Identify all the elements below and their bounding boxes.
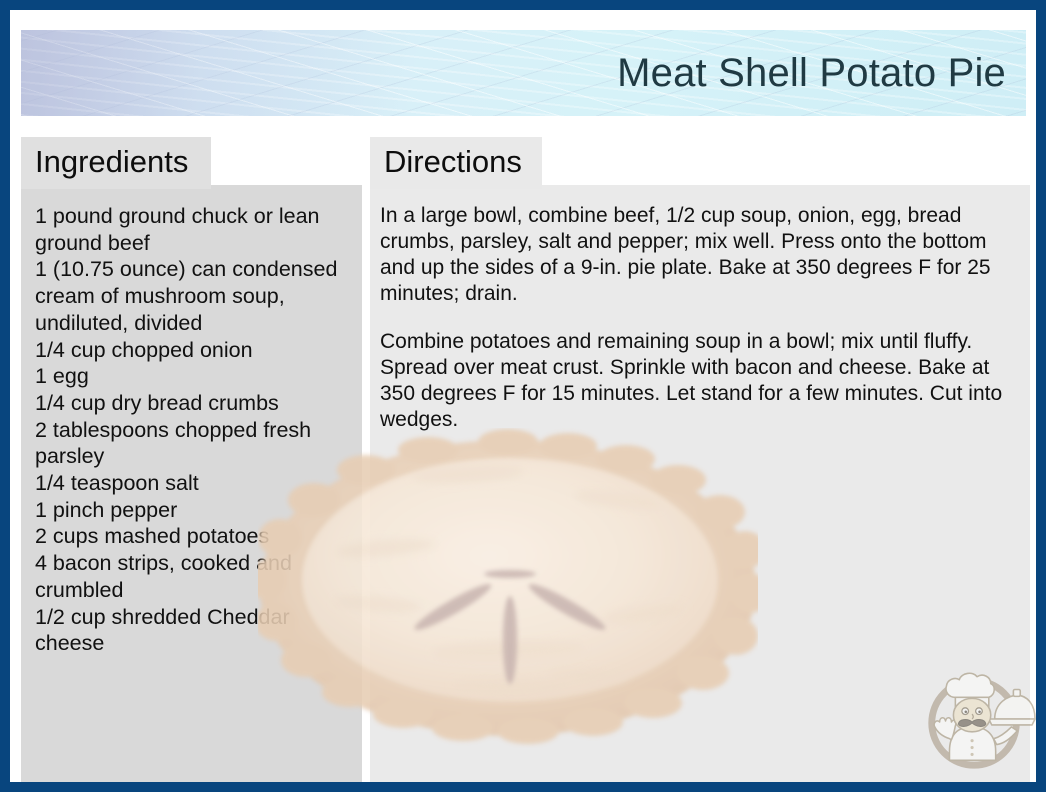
list-item: 1/4 cup dry bread crumbs — [35, 390, 350, 417]
list-item: 4 bacon strips, cooked and crumbled — [35, 550, 350, 603]
recipe-slide: Meat Shell Potato Pie Ingredients 1 poun… — [0, 0, 1046, 792]
list-item: 1 pound ground chuck or lean ground beef — [35, 203, 350, 256]
directions-panel: In a large bowl, combine beef, 1/2 cup s… — [370, 185, 1030, 782]
list-item: 2 cups mashed potatoes — [35, 523, 350, 550]
slide-content-area: Meat Shell Potato Pie Ingredients 1 poun… — [10, 10, 1036, 782]
list-item: 1 pinch pepper — [35, 497, 350, 524]
list-item: 1/2 cup shredded Cheddar cheese — [35, 604, 350, 657]
list-item: 1 (10.75 ounce) can condensed cream of m… — [35, 256, 350, 336]
list-item: 2 tablespoons chopped fresh parsley — [35, 417, 350, 470]
title-banner: Meat Shell Potato Pie — [21, 30, 1026, 116]
ingredients-panel: 1 pound ground chuck or lean ground beef… — [21, 185, 362, 782]
list-item: 1/4 cup chopped onion — [35, 337, 350, 364]
list-item: 1 egg — [35, 363, 350, 390]
section-header-directions: Directions — [370, 137, 542, 189]
page-title: Meat Shell Potato Pie — [617, 52, 1006, 94]
section-header-ingredients: Ingredients — [21, 137, 211, 189]
direction-paragraph: Combine potatoes and remaining soup in a… — [380, 329, 1012, 433]
list-item: 1/4 teaspoon salt — [35, 470, 350, 497]
ingredients-list: 1 pound ground chuck or lean ground beef… — [35, 203, 350, 657]
direction-paragraph: In a large bowl, combine beef, 1/2 cup s… — [380, 203, 1012, 307]
